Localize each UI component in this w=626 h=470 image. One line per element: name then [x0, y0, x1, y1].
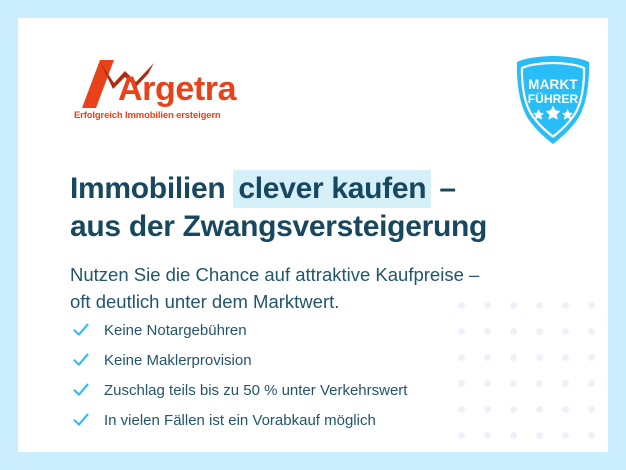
- grid-dot: [562, 432, 569, 439]
- list-item-label: Keine Maklerprovision: [104, 353, 252, 368]
- list-item-label: Zuschlag teils bis zu 50 % unter Verkehr…: [104, 383, 407, 398]
- shield-badge-icon: [507, 54, 599, 146]
- checkmark-icon: [72, 321, 90, 339]
- grid-dot: [588, 302, 595, 309]
- checkmark-icon: [72, 411, 90, 429]
- grid-dot: [588, 354, 595, 361]
- grid-dot: [588, 432, 595, 439]
- list-item: Zuschlag teils bis zu 50 % unter Verkehr…: [72, 375, 542, 405]
- page-title: Immobilien clever kaufen – aus der Zwang…: [70, 170, 570, 247]
- grid-dot: [562, 328, 569, 335]
- headline-line-2: aus der Zwangsversteigerung: [70, 210, 487, 243]
- subheadline-line-1: Nutzen Sie die Chance auf attraktive Kau…: [70, 264, 479, 285]
- list-item: In vielen Fällen ist ein Vorabkauf mögli…: [72, 405, 542, 435]
- grid-dot: [588, 380, 595, 387]
- grid-dot: [562, 354, 569, 361]
- grid-dot: [588, 328, 595, 335]
- subheadline-line-2: oft deutlich unter dem Marktwert.: [70, 291, 339, 312]
- logo-wordmark: Argetra: [118, 72, 236, 106]
- headline-highlight: clever kaufen: [233, 170, 431, 208]
- markt-fuehrer-badge: MARKT FÜHRER: [507, 54, 599, 146]
- list-item-label: In vielen Fällen ist ein Vorabkauf mögli…: [104, 413, 376, 428]
- list-item-label: Keine Notargebühren: [104, 323, 247, 338]
- promo-banner: Argetra Erfolgreich Immobilien ersteiger…: [18, 18, 608, 452]
- subheadline: Nutzen Sie die Chance auf attraktive Kau…: [70, 261, 570, 316]
- grid-dot: [562, 406, 569, 413]
- checkmark-icon: [72, 381, 90, 399]
- benefits-checklist: Keine Notargebühren Keine Maklerprovisio…: [72, 315, 542, 435]
- headline-part-2: –: [431, 172, 455, 205]
- grid-dot: [562, 380, 569, 387]
- grid-dot: [588, 406, 595, 413]
- logo-tagline: Erfolgreich Immobilien ersteigern: [74, 110, 221, 121]
- list-item: Keine Maklerprovision: [72, 345, 542, 375]
- headline-part-1: Immobilien: [70, 172, 233, 205]
- list-item: Keine Notargebühren: [72, 315, 542, 345]
- argetra-logo[interactable]: Argetra Erfolgreich Immobilien ersteiger…: [70, 60, 250, 122]
- checkmark-icon: [72, 351, 90, 369]
